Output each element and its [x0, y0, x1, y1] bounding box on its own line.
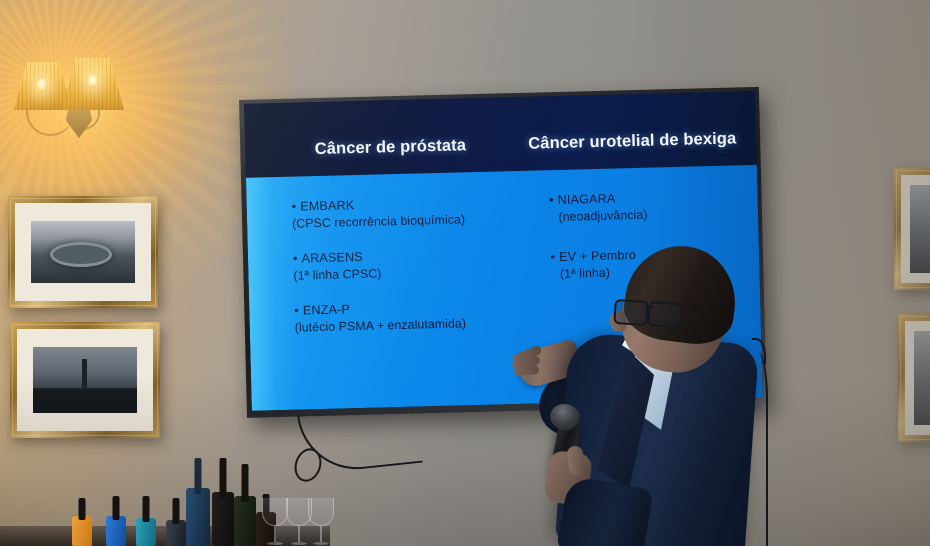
glass-foot [267, 542, 283, 545]
bullet-main-text: •ENZA-P [294, 298, 509, 317]
bottle-body [106, 516, 126, 546]
wine-glass [262, 498, 288, 546]
bullet-dot-icon: • [294, 303, 299, 317]
finger [514, 365, 540, 376]
bullet-item: •NIAGARA (neoadjuvância) [549, 188, 744, 224]
glass-foot [291, 542, 307, 545]
bottle [136, 518, 156, 546]
bullet-dot-icon: • [293, 251, 298, 265]
glass-stem [298, 526, 300, 542]
presenter [510, 246, 770, 546]
glass-foot [313, 542, 329, 545]
bullet-sub-text: (neoadjuvância) [549, 205, 743, 224]
glass-stem [274, 526, 276, 542]
bullet-label: NIAGARA [558, 191, 616, 206]
slide-column-prostate: •EMBARK (CPSC recorrência bioquímica) •A… [291, 194, 509, 355]
bottle-body [212, 492, 234, 546]
eyeglasses-right-lens [647, 301, 683, 328]
bullet-label: ENZA-P [303, 302, 350, 317]
bottle [166, 520, 186, 546]
bottle-neck [195, 458, 202, 494]
bottle-body [136, 518, 156, 546]
eyeglasses-left-lens [613, 299, 649, 326]
bullet-dot-icon: • [549, 193, 554, 207]
bullet-sub-text: (1ª linha CPSC) [293, 263, 508, 282]
bottle [72, 516, 92, 546]
bulb-left-icon [37, 76, 46, 92]
glass-stem [320, 526, 322, 542]
bottle [186, 488, 210, 546]
photo-scene: Câncer de próstata Câncer urotelial de b… [0, 0, 930, 546]
photo-image [31, 221, 134, 284]
bullet-main-text: •ARASENS [293, 246, 508, 265]
framed-photo-stadium [8, 196, 158, 308]
bullet-sub-text: (lutécio PSMA + enzalutamida) [295, 315, 510, 334]
bullet-sub-text: (CPSC recorrência bioquímica) [292, 211, 507, 230]
bottle-neck [143, 496, 150, 522]
bottle [106, 516, 126, 546]
bottle-body [186, 488, 210, 546]
bulb-right-icon [88, 72, 97, 88]
glass-bowl [308, 498, 334, 526]
bottle-body [72, 516, 92, 546]
column-title-prostate: Câncer de próstata [315, 136, 467, 159]
bullet-dot-icon: • [291, 199, 296, 213]
bullet-label: EMBARK [300, 198, 354, 213]
bullet-label: ARASENS [301, 250, 363, 266]
eyeglasses-bridge [646, 306, 654, 308]
glassware-group [262, 496, 332, 546]
bullet-item: •ARASENS (1ª linha CPSC) [293, 246, 508, 282]
wall-sconce [6, 48, 126, 160]
glass-bowl [262, 498, 288, 526]
bottle [234, 496, 256, 546]
bottle [212, 492, 234, 546]
photo-mat [15, 203, 151, 301]
bottle-neck [79, 498, 86, 520]
bottle-body [234, 496, 256, 546]
bottle-neck [113, 496, 120, 520]
bottle-neck [242, 464, 249, 502]
bottle-neck [220, 458, 227, 498]
bullet-item: •ENZA-P (lutécio PSMA + enzalutamida) [294, 298, 509, 334]
wine-glass [308, 498, 334, 546]
bottle-neck [173, 498, 180, 524]
bullet-item: •EMBARK (CPSC recorrência bioquímica) [291, 194, 506, 230]
